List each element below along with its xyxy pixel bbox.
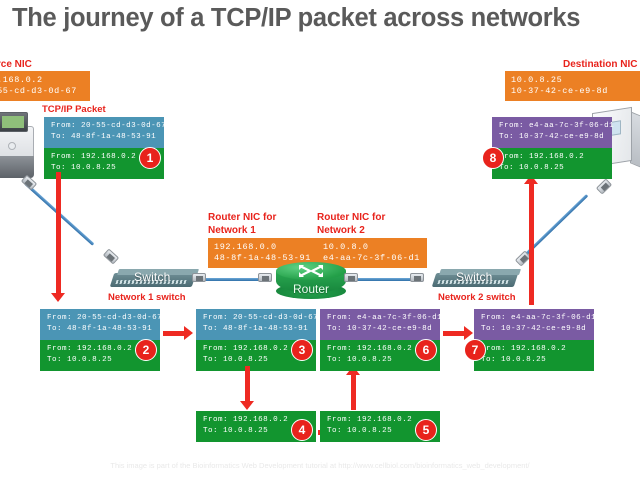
diagram-canvas: The journey of a TCP/IP packet across ne… (0, 0, 640, 480)
tcpip-packet-caption: TCP/IP Packet (42, 104, 106, 115)
plug-router-left (258, 273, 272, 282)
packet-2-badge: 2 (135, 339, 157, 361)
destination-nic-ip: 10.0.8.25 (511, 75, 639, 86)
destination-nic-label: Destination NIC (563, 59, 637, 70)
packet-8-ip-to: To: 10.0.8.25 (499, 163, 605, 174)
arrow-packet5-to-packet6 (344, 366, 362, 410)
packet-1-mac-from: From: 20-55-cd-d3-0d-67 (51, 121, 157, 132)
switch1-label: Switch (134, 270, 171, 284)
packet-8-ip-layer: From: 192.168.0.2 To: 10.0.8.25 (492, 148, 612, 179)
packet-2-mac-to: To: 48-8f-1a-48-53-91 (47, 324, 153, 335)
packet-1-mac-to: To: 48-8f-1a-48-53-91 (51, 132, 157, 143)
plug-source-nic (21, 174, 37, 190)
packet-6-mac-to: To: 10-37-42-ce-e9-8d (327, 324, 433, 335)
packet-8-mac-to: To: 10-37-42-ce-e9-8d (499, 132, 605, 143)
packet-7-badge: 7 (464, 339, 486, 361)
packet-8-badge: 8 (482, 147, 504, 169)
source-computer-icon (0, 112, 34, 182)
packet-1: From: 20-55-cd-d3-0d-67 To: 48-8f-1a-48-… (44, 117, 164, 179)
packet-2-mac-layer: From: 20-55-cd-d3-0d-67 To: 48-8f-1a-48-… (40, 309, 160, 340)
packet-2-mac-from: From: 20-55-cd-d3-0d-67 (47, 313, 153, 324)
source-nic-mac: 20-55-cd-d3-0d-67 (0, 86, 84, 97)
packet-4-badge: 4 (291, 419, 313, 441)
packet-7-mac-layer: From: e4-aa-7c-3f-06-d1 To: 10-37-42-ce-… (474, 309, 594, 340)
packet-1-badge: 1 (139, 147, 161, 169)
packet-3-mac-from: From: 20-55-cd-d3-0d-67 (203, 313, 309, 324)
packet-8-ip-from: From: 192.168.0.2 (499, 152, 605, 163)
packet-7: From: e4-aa-7c-3f-06-d1 To: 10-37-42-ce-… (474, 309, 594, 371)
packet-7-mac-to: To: 10-37-42-ce-e9-8d (481, 324, 587, 335)
computer-base (0, 156, 34, 178)
arrow-packet1-to-packet2 (49, 172, 67, 302)
packet-1-mac-layer: From: 20-55-cd-d3-0d-67 To: 48-8f-1a-48-… (44, 117, 164, 148)
plug-switch2-left (410, 273, 424, 282)
packet-7-ip-from: From: 192.168.0.2 (481, 344, 587, 355)
arrow-packet7-to-packet8 (522, 175, 540, 305)
packet-3-mac-layer: From: 20-55-cd-d3-0d-67 To: 48-8f-1a-48-… (196, 309, 316, 340)
computer-screen (0, 112, 28, 132)
router-nic1-label-line1: Router NIC for (208, 212, 276, 223)
arrow-packet3-to-packet4 (238, 366, 256, 410)
router-nic1-label-line2: Network 1 (208, 225, 256, 236)
packet-6-badge: 6 (415, 339, 437, 361)
switch1-icon: Switch (112, 269, 198, 289)
packet-7-ip-layer: From: 192.168.0.2 To: 10.0.8.25 (474, 340, 594, 371)
plug-destination-nic (596, 178, 612, 194)
computer-drive (8, 142, 16, 150)
arrow-packet2-to-packet3 (163, 324, 193, 342)
source-nic-box: 192.168.0.2 20-55-cd-d3-0d-67 (0, 71, 90, 101)
destination-nic-box: 10.0.8.25 10-37-42-ce-e9-8d (505, 71, 640, 101)
router-nic2-label-line1: Router NIC for (317, 212, 385, 223)
packet-3: From: 20-55-cd-d3-0d-67 To: 48-8f-1a-48-… (196, 309, 316, 371)
packet-7-ip-to: To: 10.0.8.25 (481, 355, 587, 366)
router-nic2-ip: 10.0.8.0 (323, 242, 421, 253)
packet-8: From: e4-aa-7c-3f-06-d1 To: 10-37-42-ce-… (492, 117, 612, 179)
destination-nic-mac: 10-37-42-ce-e9-8d (511, 86, 639, 97)
page-title: The journey of a TCP/IP packet across ne… (12, 4, 640, 33)
router-arrows-icon (298, 264, 324, 278)
footer-attribution: This image is part of the Bioinformatics… (0, 461, 640, 470)
packet-6-mac-from: From: e4-aa-7c-3f-06-d1 (327, 313, 433, 324)
switch2-caption: Network 2 switch (438, 292, 516, 303)
packet-3-badge: 3 (291, 339, 313, 361)
router-icon: Router (276, 262, 346, 302)
plug-switch1-left (103, 248, 119, 264)
packet-8-mac-from: From: e4-aa-7c-3f-06-d1 (499, 121, 605, 132)
arrow-packet6-to-packet7 (443, 324, 473, 342)
source-nic-label: Source NIC (0, 59, 32, 70)
source-nic-ip: 192.168.0.2 (0, 75, 84, 86)
packet-3-mac-to: To: 48-8f-1a-48-53-91 (203, 324, 309, 335)
switch2-icon: Switch (434, 269, 520, 289)
router-nic1-ip: 192.168.0.0 (214, 242, 312, 253)
plug-switch1-right (192, 273, 206, 282)
packet-5: From: 192.168.0.2 To: 10.0.8.25 5 (320, 411, 440, 442)
packet-8-mac-layer: From: e4-aa-7c-3f-06-d1 To: 10-37-42-ce-… (492, 117, 612, 148)
router-label: Router (276, 282, 346, 296)
packet-6: From: e4-aa-7c-3f-06-d1 To: 10-37-42-ce-… (320, 309, 440, 371)
packet-2: From: 20-55-cd-d3-0d-67 To: 48-8f-1a-48-… (40, 309, 160, 371)
packet-4: From: 192.168.0.2 To: 10.0.8.25 4 (196, 411, 316, 442)
switch2-label: Switch (456, 270, 493, 284)
plug-router-right (344, 273, 358, 282)
packet-5-badge: 5 (415, 419, 437, 441)
packet-6-mac-layer: From: e4-aa-7c-3f-06-d1 To: 10-37-42-ce-… (320, 309, 440, 340)
packet-7-mac-from: From: e4-aa-7c-3f-06-d1 (481, 313, 587, 324)
router-nic2-label-line2: Network 2 (317, 225, 365, 236)
switch1-caption: Network 1 switch (108, 292, 186, 303)
